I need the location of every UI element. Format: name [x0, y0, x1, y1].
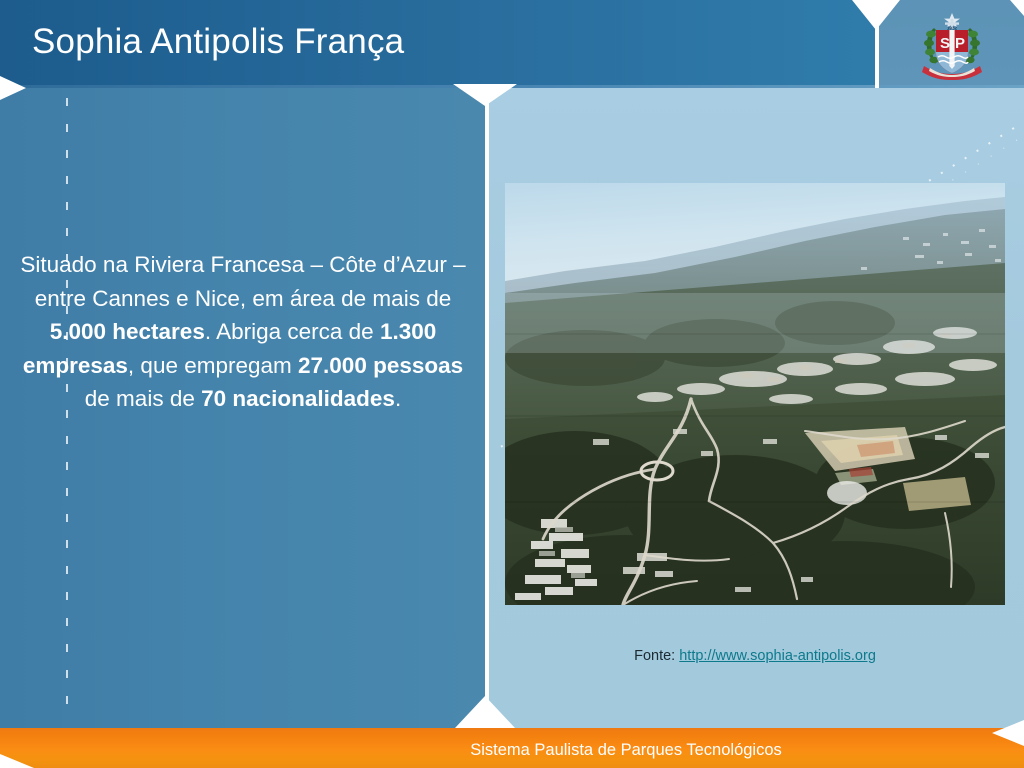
title-bar-left-edge [0, 0, 14, 85]
source-caption: Fonte: http://www.sophia-antipolis.org [505, 648, 1005, 664]
body-text-run-0: Situado na Riviera Francesa – Côte d’Azu… [20, 252, 465, 311]
svg-text:S: S [940, 35, 950, 52]
chevron-down-icon [852, 0, 900, 30]
aerial-photo [505, 183, 1005, 605]
body-text-run-7: 70 nacionalidades [201, 386, 395, 411]
source-label: Fonte: [634, 648, 675, 664]
title-bar: Sophia Antipolis França [0, 0, 875, 85]
body-text-run-6: de mais de [85, 386, 201, 411]
body-text-run-2: . Abriga cerca de [205, 319, 380, 344]
page-title: Sophia Antipolis França [32, 22, 852, 62]
body-text-run-4: , que empregam [128, 353, 298, 378]
footer-text: Sistema Paulista de Parques Tecnológicos [0, 741, 1024, 760]
panel-divider [485, 88, 489, 728]
chevron-down-divider-icon [453, 84, 517, 106]
source-url-link[interactable]: http://www.sophia-antipolis.org [679, 648, 876, 664]
body-text-run-5: 27.000 pessoas [298, 353, 463, 378]
svg-text:P: P [955, 35, 965, 52]
body-text: Situado na Riviera Francesa – Côte d’Azu… [18, 248, 468, 416]
body-text-run-1: 5.000 hectares [50, 319, 205, 344]
sao-paulo-coat-of-arms-logo: 1932 S P [916, 10, 988, 80]
body-text-run-8: . [395, 386, 401, 411]
chevron-right-icon [0, 76, 26, 100]
svg-text:1932: 1932 [947, 26, 958, 31]
corner-notch-icon [1010, 0, 1024, 16]
slide: Sophia Antipolis França 1932 [0, 0, 1024, 768]
chevron-up-divider-icon [455, 696, 515, 728]
